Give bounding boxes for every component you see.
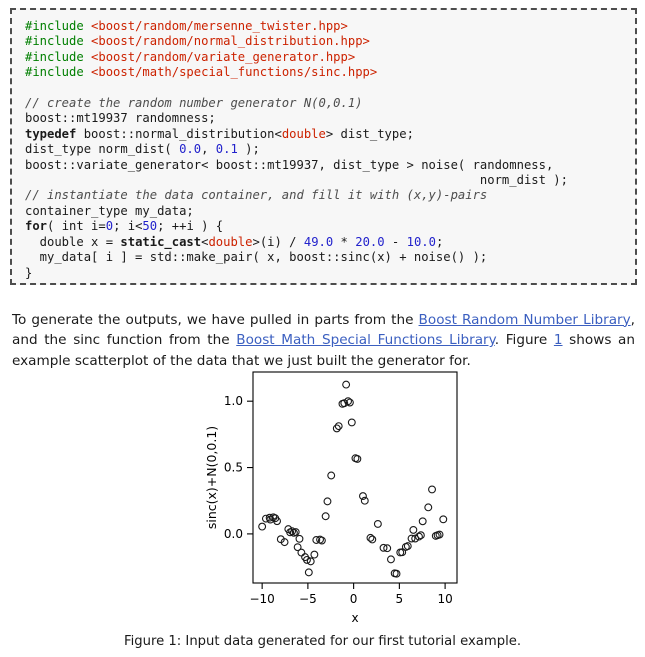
code-line: // instantiate the data container, and f… [25,188,635,203]
code-line: boost::mt19937 randomness; [25,111,635,126]
x-tick-label: −10 [249,592,274,606]
code-token: double [282,127,326,141]
x-axis-label: x [351,611,358,625]
paragraph-text-1: To generate the outputs, we have pulled … [12,312,419,328]
figure-caption: Figure 1: Input data generated for our f… [0,634,645,649]
paragraph-text-3: . Figure [495,332,554,348]
code-token: // instantiate the data container, and f… [25,188,487,202]
code-token: for [25,219,47,233]
code-line: // create the random number generator N(… [25,96,635,111]
code-token: <boost/random/normal_distribution.hpp> [91,34,370,48]
data-point [369,536,376,543]
code-token: static_cast [120,235,201,249]
x-tick-label: 5 [396,592,404,606]
data-point [410,527,417,534]
code-token: 0 [106,219,113,233]
code-token: >(i) / [252,235,303,249]
code-token: #include [25,65,91,79]
y-tick-label: 0.0 [224,527,243,541]
code-line: double x = static_cast<double>(i) / 49.0… [25,235,635,250]
code-token: 0.1 [216,142,238,156]
code-token: ( int i= [47,219,106,233]
data-point [343,381,350,388]
code-token: #include [25,19,91,33]
data-point [328,472,335,479]
data-point [425,504,432,511]
code-line: #include <boost/math/special_functions/s… [25,65,635,80]
data-point [429,486,436,493]
code-token: 49.0 [304,235,333,249]
code-token: ; i< [113,219,142,233]
code-token: boost::variate_generator< boost::mt19937… [25,158,553,172]
data-point [374,521,381,528]
code-token: ; [436,235,443,249]
x-tick-label: 10 [437,592,452,606]
code-token: > dist_type; [326,127,414,141]
code-token: typedef [25,127,76,141]
code-line: norm_dist ); [25,173,635,188]
scatterplot-svg: −10−505100.00.51.0xsinc(x)+N(0,0.1) [0,368,645,634]
code-line: boost::variate_generator< boost::mt19937… [25,158,635,173]
data-point [324,498,331,505]
code-line: for( int i=0; i<50; ++i ) { [25,219,635,234]
code-token: container_type my_data; [25,204,194,218]
code-line: dist_type norm_dist( 0.0, 0.1 ); [25,142,635,157]
code-token: boost::mt19937 randomness; [25,111,216,125]
data-point [417,532,424,539]
code-token: norm_dist ); [25,173,568,187]
data-points [259,381,447,577]
code-token: <boost/random/mersenne_twister.hpp> [91,19,348,33]
data-point [440,516,447,523]
code-token: - [385,235,407,249]
code-token: 0.0 [179,142,201,156]
code-token: 10.0 [407,235,436,249]
x-tick-label: −5 [299,592,317,606]
code-token: double [208,235,252,249]
code-token: ); [238,142,260,156]
figure-scatterplot: −10−505100.00.51.0xsinc(x)+N(0,0.1) Figu… [0,368,645,657]
code-line: #include <boost/random/normal_distributi… [25,34,635,49]
code-token: #include [25,34,91,48]
code-token: <boost/random/variate_generator.hpp> [91,50,355,64]
code-token: ; ++i ) { [157,219,223,233]
code-token: // create the random number generator N(… [25,96,363,110]
code-token: double x = [25,235,120,249]
y-tick-label: 0.5 [224,461,243,475]
code-line: my_data[ i ] = std::make_pair( x, boost:… [25,250,635,265]
code-line: } [25,266,635,281]
data-point [311,551,318,558]
code-token: <boost/math/special_functions/sinc.hpp> [91,65,377,79]
code-token: , [201,142,216,156]
y-axis-label: sinc(x)+N(0,0.1) [204,426,219,529]
data-point [259,523,266,530]
data-point [419,518,426,525]
code-block: #include <boost/random/mersenne_twister.… [10,8,637,285]
code-token: my_data[ i ] = std::make_pair( x, boost:… [25,250,487,264]
code-token: 20.0 [355,235,384,249]
code-line: typedef boost::normal_distribution<doubl… [25,127,635,142]
code-line: #include <boost/random/variate_generator… [25,50,635,65]
link-boost-random-number-library[interactable]: Boost Random Number Library [419,312,631,328]
data-point [296,535,303,542]
plot-frame [253,372,457,583]
code-line: #include <boost/random/mersenne_twister.… [25,19,635,34]
code-token: } [25,266,32,280]
link-boost-math-special-functions-library[interactable]: Boost Math Special Functions Library [236,332,494,348]
data-point [367,534,374,541]
code-line [25,81,635,96]
data-point [348,419,355,426]
link-figure-1[interactable]: 1 [554,332,563,348]
code-line: container_type my_data; [25,204,635,219]
code-token: #include [25,50,91,64]
data-point [305,569,312,576]
body-paragraph: To generate the outputs, we have pulled … [12,310,635,372]
code-listing: #include <boost/random/mersenne_twister.… [25,19,635,281]
code-token: boost::normal_distribution< [76,127,281,141]
data-point [322,513,329,520]
data-point [388,556,395,563]
data-point [298,549,305,556]
code-token: * [333,235,355,249]
code-token: dist_type norm_dist( [25,142,179,156]
y-tick-label: 1.0 [224,394,243,408]
x-tick-label: 0 [350,592,358,606]
code-token: 50 [142,219,157,233]
